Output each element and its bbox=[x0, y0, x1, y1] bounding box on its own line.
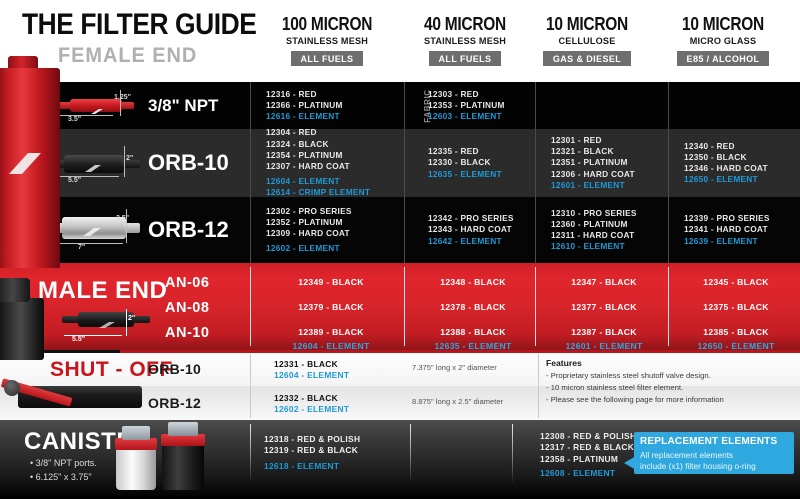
part-number-element: 12616 - ELEMENT bbox=[266, 111, 408, 122]
male-end-fitting-photo bbox=[0, 276, 56, 362]
part-number: 12317 - RED & BLACK bbox=[540, 442, 636, 453]
female-end-section: 3.5" 1.25" 3/8" NPT 12316 - RED 12366 - … bbox=[0, 82, 800, 263]
part-number: 12349 - BLACK bbox=[258, 277, 404, 287]
row-label-orb12: ORB-12 bbox=[148, 217, 229, 243]
feature-item: - Please see the following page for more… bbox=[546, 395, 724, 404]
table-row-orb12: 7" 2.5" ORB-12 12302 - PRO SERIES 12352 … bbox=[0, 197, 800, 263]
part-number: 12351 - PLATINUM bbox=[551, 157, 683, 168]
cell-canister-100micron: 12318 - RED & POLISH 12319 - RED & BLACK… bbox=[264, 434, 360, 472]
cell-canister-10micron-cellulose: 12308 - RED & POLISH 12317 - RED & BLACK… bbox=[540, 431, 636, 480]
part-number-element: 12608 - ELEMENT bbox=[540, 468, 636, 479]
cell-npt-10micron-cellulose bbox=[543, 82, 683, 129]
cell-orb12-100micron: 12302 - PRO SERIES 12352 - PLATINUM 1230… bbox=[258, 197, 408, 263]
part-number: 12350 - BLACK bbox=[684, 152, 800, 163]
section-title-male-end: MALE END bbox=[38, 277, 167, 305]
part-number-element: 12604 - ELEMENT bbox=[266, 176, 408, 187]
part-number-element: 12602 - ELEMENT bbox=[266, 243, 408, 254]
feature-item: - Proprietary stainless steel shutoff va… bbox=[546, 371, 711, 380]
row-label-shutoff-orb10: ORB-10 bbox=[148, 361, 201, 377]
male-end-section: MALE END 5.5" 2" AN-06 AN-08 AN-10 12349… bbox=[0, 263, 800, 350]
dimension-shutoff-orb12: 8.875" long x 2.5" diameter bbox=[412, 397, 503, 406]
shutoff-valve-photo bbox=[0, 372, 150, 418]
column-micron-label: 40 MICRON bbox=[401, 14, 530, 35]
part-number: 12375 - BLACK bbox=[672, 302, 800, 312]
dimension-diameter-orb12: 2.5" bbox=[116, 215, 129, 222]
part-number: 12377 - BLACK bbox=[540, 302, 668, 312]
page-title: THE FILTER GUIDE bbox=[22, 8, 256, 42]
size-label-an10: AN-10 bbox=[165, 325, 209, 341]
feature-item: - 10 micron stainless steel filter eleme… bbox=[546, 383, 683, 392]
cell-orb12-10micron-cellulose: 12310 - PRO SERIES 12360 - PLATINUM 1231… bbox=[543, 197, 683, 263]
column-material-label: CELLULOSE bbox=[515, 36, 659, 47]
column-fuel-badge: E85 / ALCOHOL bbox=[677, 51, 770, 66]
row-label-shutoff-orb12: ORB-12 bbox=[148, 395, 201, 411]
part-number: 12307 - HARD COAT bbox=[266, 161, 408, 172]
part-number: 12341 - HARD COAT bbox=[684, 224, 800, 235]
part-number: 12385 - BLACK bbox=[672, 327, 800, 337]
part-number-element: 12618 - ELEMENT bbox=[264, 461, 360, 472]
dimension-length-orb10: 5.5" bbox=[68, 177, 81, 184]
column-header-10-micron-micro-glass: 10 MICRON MICRO GLASS E85 / ALCOHOL bbox=[648, 14, 798, 67]
part-number: 12319 - RED & BLACK bbox=[264, 445, 360, 456]
part-number: 12324 - BLACK bbox=[266, 139, 408, 150]
row-label-orb10: ORB-10 bbox=[148, 150, 229, 176]
table-row-orb10: 5.5" 2" ORB-10 12304 - RED 12324 - BLACK… bbox=[0, 129, 800, 197]
part-number: 12366 - PLATINUM bbox=[266, 100, 408, 111]
part-number-element: 12650 - ELEMENT bbox=[684, 174, 800, 185]
callout-text: All replacement elements bbox=[640, 450, 733, 460]
row-label-npt: 3/8" NPT bbox=[148, 96, 218, 116]
part-number: 12340 - RED bbox=[684, 141, 800, 152]
callout-heading: REPLACEMENT ELEMENTS bbox=[640, 436, 777, 447]
dimension-length-orb12: 7" bbox=[78, 244, 85, 251]
size-label-an08: AN-08 bbox=[165, 300, 209, 316]
part-number: 12321 - BLACK bbox=[551, 146, 683, 157]
dimension-diameter-npt: 1.25" bbox=[114, 94, 131, 101]
column-fuel-badge: ALL FUELS bbox=[291, 51, 364, 66]
part-number: 12301 - RED bbox=[551, 135, 683, 146]
canister-spec: • 3/8" NPT ports. bbox=[30, 458, 97, 468]
column-micron-label: 100 MICRON bbox=[263, 14, 392, 35]
part-number: 12358 - PLATINUM bbox=[540, 454, 636, 465]
cell-npt-10micron-microglass bbox=[676, 82, 796, 129]
part-number: 12354 - PLATINUM bbox=[266, 150, 408, 161]
callout-text: include (x1) filter housing o-ring bbox=[640, 461, 756, 471]
dimension-diameter-male-end: 2" bbox=[128, 315, 135, 322]
cell-orb12-10micron-microglass: 12339 - PRO SERIES 12341 - HARD COAT 126… bbox=[676, 197, 800, 263]
part-number: 12332 - BLACK bbox=[274, 393, 338, 404]
part-number: 12379 - BLACK bbox=[258, 302, 404, 312]
section-divider bbox=[0, 350, 800, 353]
cell-orb10-10micron-microglass: 12340 - RED 12350 - BLACK 12346 - HARD C… bbox=[676, 129, 800, 197]
part-number: 12304 - RED bbox=[266, 127, 408, 138]
dimension-length-male-end: 5.5" bbox=[72, 336, 85, 343]
title-bar: THE FILTER GUIDE FEMALE END 100 MICRON S… bbox=[0, 0, 800, 82]
dimension-length-npt: 3.5" bbox=[68, 116, 81, 123]
dimension-shutoff-orb10: 7.375" long x 2" diameter bbox=[412, 363, 497, 372]
part-number-element: 12604 - ELEMENT bbox=[274, 370, 349, 381]
part-number: 12346 - HARD COAT bbox=[684, 163, 800, 174]
part-number: 12309 - HARD COAT bbox=[266, 228, 408, 239]
section-title-female-end: FEMALE END bbox=[58, 44, 197, 68]
part-number: 12302 - PRO SERIES bbox=[266, 206, 408, 217]
cell-orb10-10micron-cellulose: 12301 - RED 12321 - BLACK 12351 - PLATIN… bbox=[543, 129, 683, 197]
part-number-element: 12602 - ELEMENT bbox=[274, 404, 349, 415]
cell-orb10-100micron: 12304 - RED 12324 - BLACK 12354 - PLATIN… bbox=[258, 129, 408, 197]
part-number: 12318 - RED & POLISH bbox=[264, 434, 360, 445]
column-fuel-badge: GAS & DIESEL bbox=[543, 51, 631, 66]
column-micron-label: 10 MICRON bbox=[659, 14, 788, 35]
part-number: 12389 - BLACK bbox=[258, 327, 404, 337]
part-number-element: 12610 - ELEMENT bbox=[551, 241, 683, 252]
column-fuel-badge: ALL FUELS bbox=[429, 51, 502, 66]
part-number: 12331 - BLACK bbox=[274, 359, 338, 370]
cell-npt-100micron: 12316 - RED 12366 - PLATINUM 12616 - ELE… bbox=[258, 82, 408, 129]
part-number: 12352 - PLATINUM bbox=[266, 217, 408, 228]
column-material-label: STAINLESS MESH bbox=[255, 36, 399, 47]
brand-logo-icon bbox=[8, 150, 42, 176]
part-number: 12339 - PRO SERIES bbox=[684, 213, 800, 224]
part-number: 12345 - BLACK bbox=[672, 277, 800, 287]
part-number-element: 12639 - ELEMENT bbox=[684, 236, 800, 247]
part-number: 12306 - HARD COAT bbox=[551, 169, 683, 180]
part-number: 12311 - HARD COAT bbox=[551, 230, 683, 241]
part-number: 12388 - BLACK bbox=[410, 327, 536, 337]
part-number: 12378 - BLACK bbox=[410, 302, 536, 312]
column-header-100-micron: 100 MICRON STAINLESS MESH ALL FUELS bbox=[252, 14, 402, 67]
part-number: 12387 - BLACK bbox=[540, 327, 668, 337]
canister-spec: • 6.125" x 3.75" bbox=[30, 472, 92, 482]
part-number-element: 12601 - ELEMENT bbox=[551, 180, 683, 191]
part-number: 12348 - BLACK bbox=[410, 277, 536, 287]
column-material-label: MICRO GLASS bbox=[651, 36, 795, 47]
part-number: 12308 - RED & POLISH bbox=[540, 431, 636, 442]
dimension-diameter-orb10: 2" bbox=[126, 155, 133, 162]
column-header-10-micron-cellulose: 10 MICRON CELLULOSE GAS & DIESEL bbox=[512, 14, 662, 67]
part-number: 12360 - PLATINUM bbox=[551, 219, 683, 230]
part-number: 12347 - BLACK bbox=[540, 277, 668, 287]
features-heading: Features bbox=[546, 358, 582, 368]
column-micron-label: 10 MICRON bbox=[523, 14, 652, 35]
part-number: 12310 - PRO SERIES bbox=[551, 208, 683, 219]
size-label-an06: AN-06 bbox=[165, 275, 209, 291]
part-number: 12316 - RED bbox=[266, 89, 408, 100]
filter-guide-chart: THE FILTER GUIDE FEMALE END 100 MICRON S… bbox=[0, 0, 800, 499]
filter-thumbnail-male-end bbox=[60, 303, 156, 339]
canister-photo bbox=[116, 424, 236, 498]
table-row-npt: 3.5" 1.25" 3/8" NPT 12316 - RED 12366 - … bbox=[0, 82, 800, 129]
